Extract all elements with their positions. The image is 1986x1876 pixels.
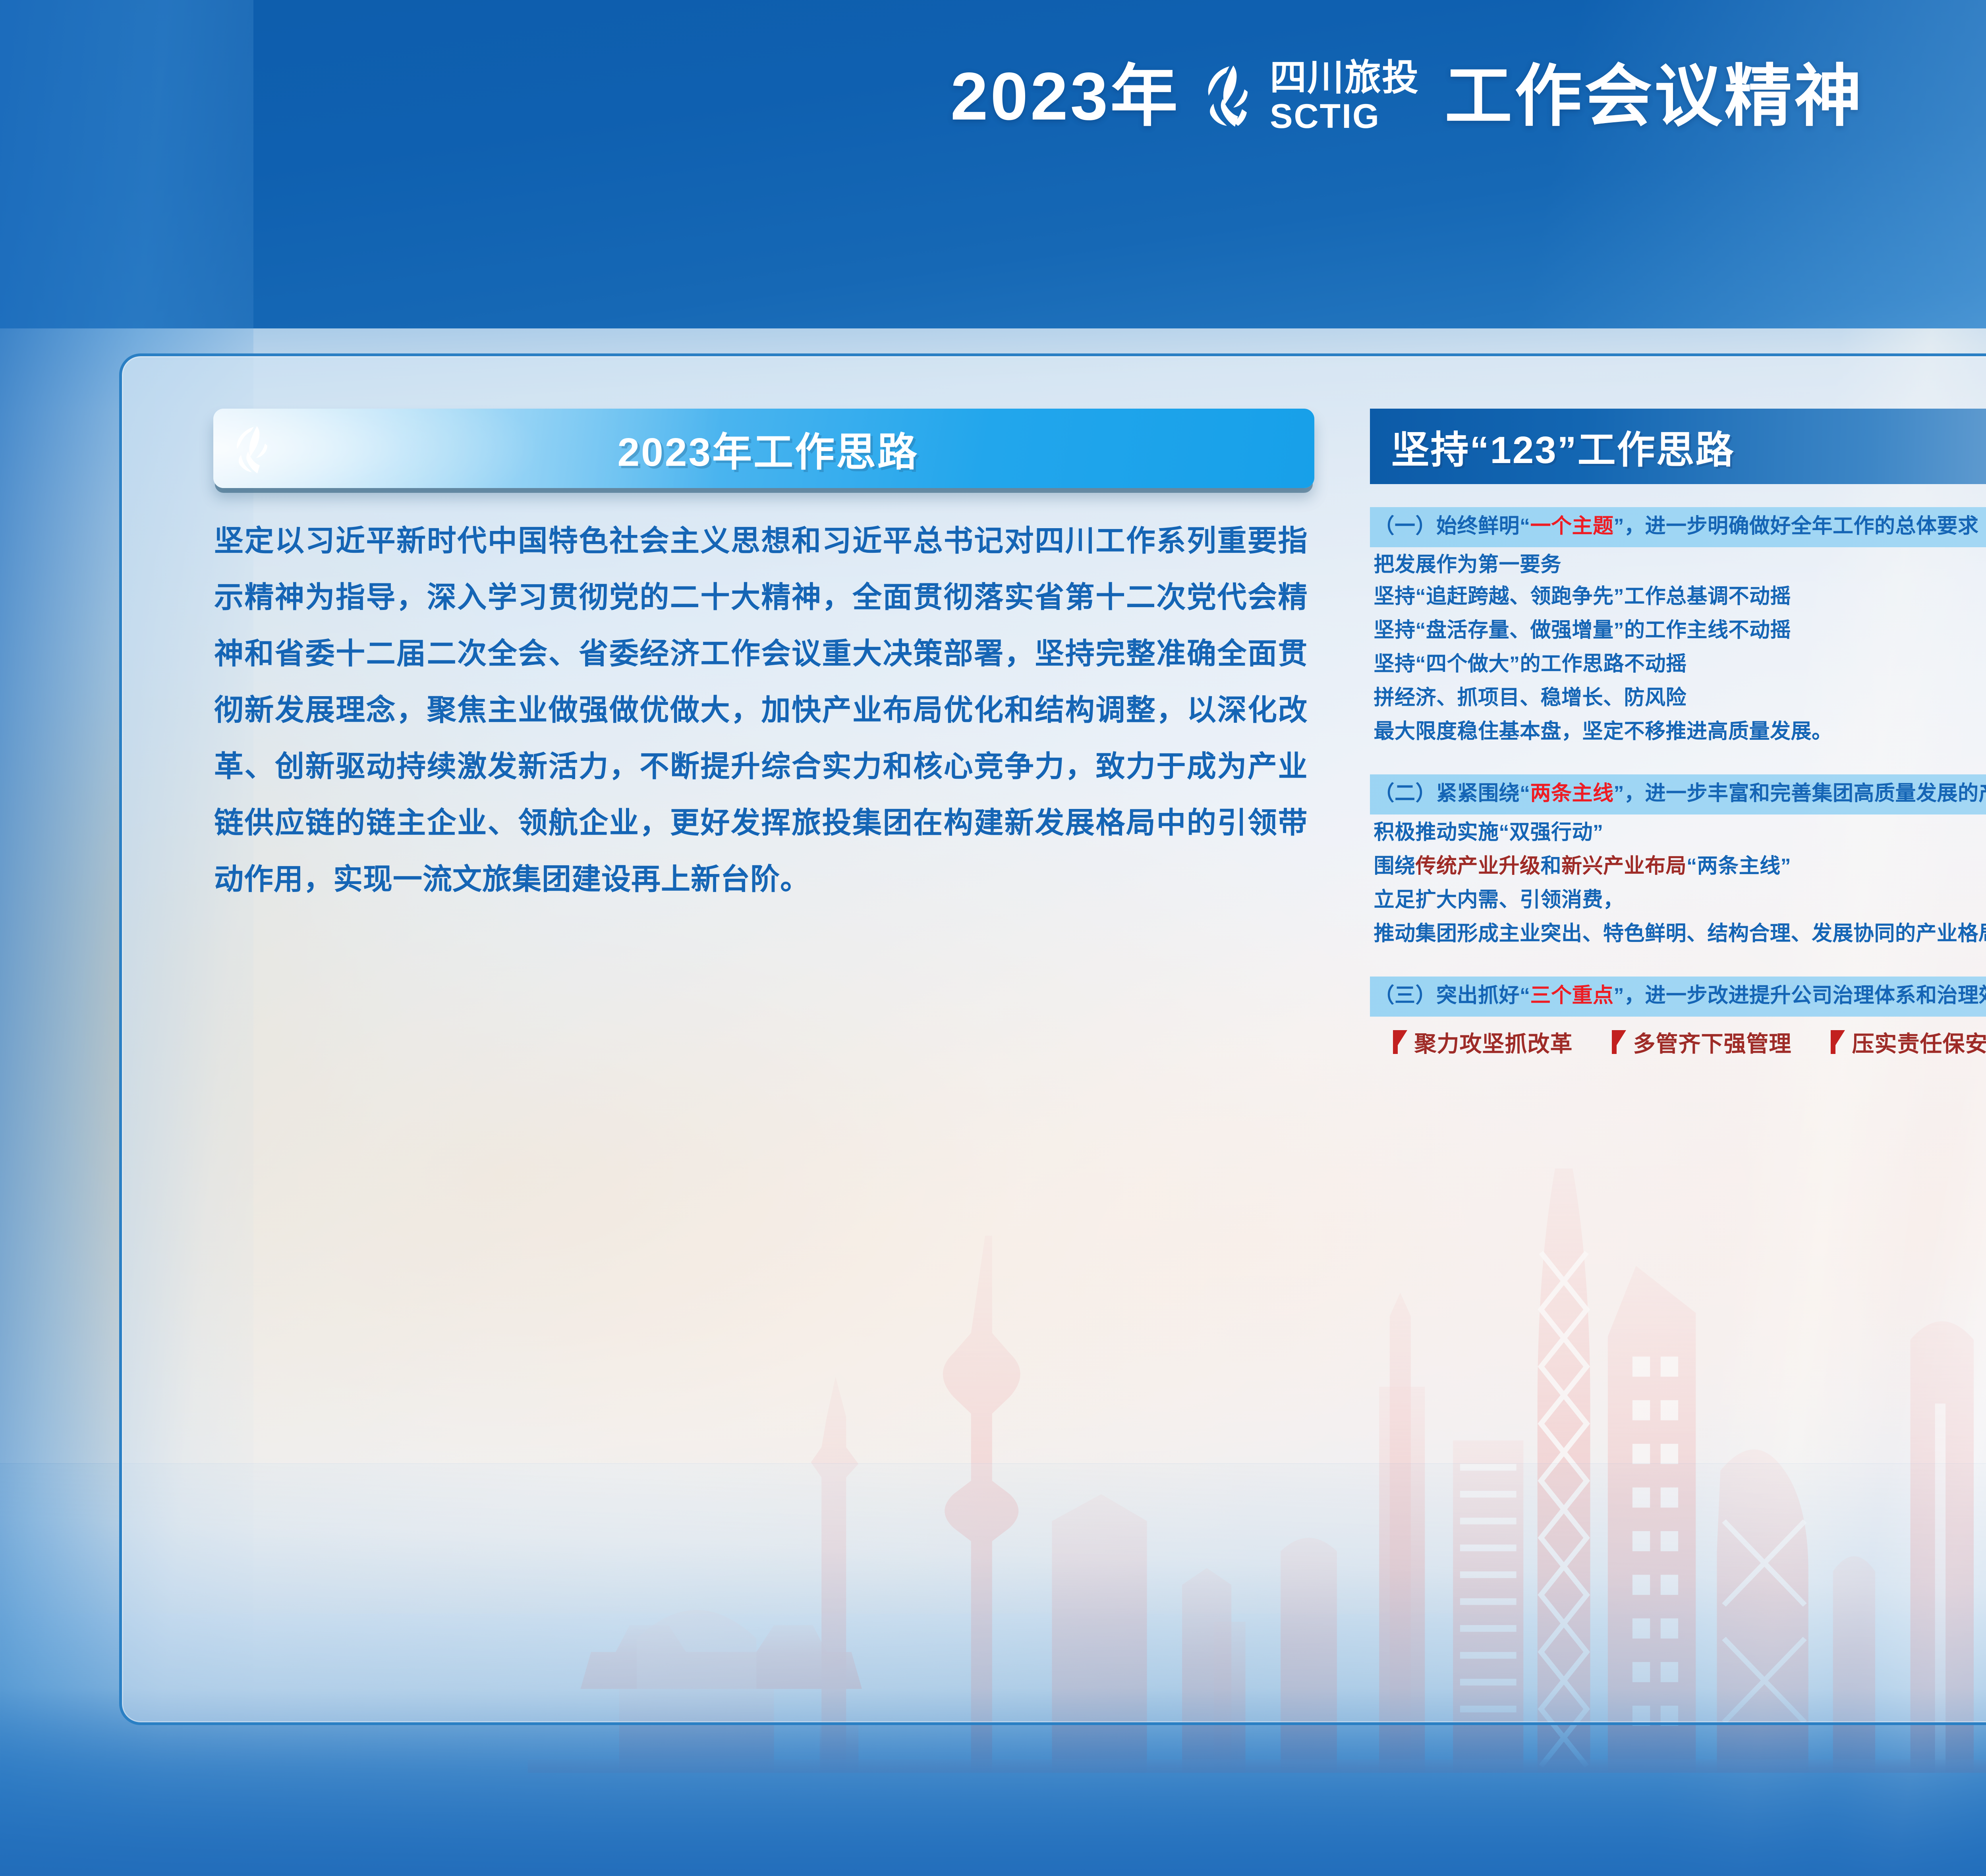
bullet-item: 压实责任保安全 — [1830, 1026, 1986, 1058]
left-section-banner: 2023年工作思路 — [213, 409, 1314, 488]
bullet-label-3: 压实责任保安全 — [1852, 1026, 1986, 1058]
section-1-head-highlight: 一个主题 — [1530, 515, 1614, 538]
right-section-banner: 坚持“123”工作思路 — [1370, 409, 1986, 484]
bullet-label-1: 聚力攻坚抓改革 — [1414, 1026, 1573, 1058]
section-1-head-suffix: ”，进一步明确做好全年工作的总体要求 — [1614, 515, 1979, 538]
section-2-subheading: 积极推动实施“双强行动” — [1374, 817, 1986, 848]
section-divider-1 — [1370, 747, 1986, 774]
section-2-line-2: 推动集团形成主业突出、特色鲜明、结构合理、发展协同的产业格局。 — [1374, 918, 1986, 950]
section-2-heading: （二）紧紧围绕“两条主线”，进一步丰富和完善集团高质量发展的产业格局 — [1370, 774, 1986, 814]
globe-icon — [231, 423, 282, 474]
section-2-mixed-d: 新兴产业布局 — [1561, 855, 1687, 878]
section-3-head-highlight: 三个重点 — [1530, 984, 1614, 1007]
brand-name-en: SCTIG — [1270, 99, 1380, 133]
section-2-head-highlight: 两条主线 — [1530, 782, 1614, 805]
section-divider-2 — [1370, 950, 1986, 977]
title-main: 工作会议精神 — [1445, 63, 1864, 130]
red-flag-icon — [1392, 1029, 1408, 1055]
section-3-heading: （三）突出抓好“三个重点”，进一步改进提升公司治理体系和治理效能 — [1370, 977, 1986, 1017]
left-body-paragraph: 坚定以习近平新时代中国特色社会主义思想和习近平总书记对四川工作系列重要指示精神为… — [214, 513, 1308, 908]
section-2-head-suffix: ”，进一步丰富和完善集团高质量发展的产业格局 — [1614, 782, 1986, 805]
right-body: （一）始终鲜明“一个主题”，进一步明确做好全年工作的总体要求 把发展作为第一要务… — [1370, 507, 1986, 1058]
bullet-item: 多管齐下强管理 — [1611, 1026, 1792, 1058]
section-1-line-1: 坚持“追赶跨越、领跑争先”工作总基调不动摇 — [1374, 581, 1986, 612]
section-1-line-3: 坚持“四个做大”的工作思路不动摇 — [1374, 648, 1986, 680]
section-3-head-prefix: （三）突出抓好“ — [1374, 984, 1530, 1007]
section-2-mixed-a: 围绕 — [1374, 855, 1416, 878]
section-3-head-suffix: ”，进一步改进提升公司治理体系和治理效能 — [1614, 984, 1986, 1007]
globe-swoosh-logo-icon — [1206, 65, 1261, 128]
brand-logo: 四川旅投 SCTIG — [1206, 60, 1419, 133]
poster-title: 2023年 四川旅投 SCTIG 工作会议精神 — [0, 60, 1986, 133]
section-1-head-prefix: （一）始终鲜明“ — [1374, 515, 1530, 538]
main-content-panel: 2023年工作思路 坚定以习近平新时代中国特色社会主义思想和习近平总书记对四川工… — [119, 353, 1986, 1725]
section-1-line-4: 拼经济、抓项目、稳增长、防风险 — [1374, 682, 1986, 714]
section-2-mixed-e: “两条主线” — [1687, 855, 1791, 878]
section-1-line-2: 坚持“盘活存量、做强增量”的工作主线不动摇 — [1374, 615, 1986, 646]
left-banner-title: 2023年工作思路 — [282, 420, 1255, 477]
top-blue-band — [0, 0, 1986, 328]
section-1-heading: （一）始终鲜明“一个主题”，进一步明确做好全年工作的总体要求 — [1370, 507, 1986, 547]
bullet-item: 聚力攻坚抓改革 — [1392, 1026, 1573, 1058]
section-2-line-1: 立足扩大内需、引领消费， — [1374, 884, 1986, 916]
section-2-mixed-b: 传统产业升级 — [1416, 855, 1541, 878]
section-2-head-prefix: （二）紧紧围绕“ — [1374, 782, 1530, 805]
left-column: 2023年工作思路 坚定以习近平新时代中国特色社会主义思想和习近平总书记对四川工… — [122, 356, 1342, 1722]
section-2-line-mixed: 围绕传统产业升级和新兴产业布局“两条主线” — [1374, 851, 1986, 882]
right-banner-title: 坚持“123”工作思路 — [1391, 419, 1735, 474]
red-flag-icon — [1611, 1029, 1627, 1055]
bullet-label-2: 多管齐下强管理 — [1633, 1026, 1792, 1058]
section-3-bullets: 聚力攻坚抓改革 多管齐下强管理 压实责任保安全 — [1392, 1026, 1986, 1058]
brand-name-cn: 四川旅投 — [1270, 60, 1419, 96]
right-column: 坚持“123”工作思路 （一）始终鲜明“一个主题”，进一步明确做好全年工作的总体… — [1342, 356, 1986, 1722]
section-1-subheading: 把发展作为第一要务 — [1374, 551, 1986, 579]
section-1-line-5: 最大限度稳住基本盘，坚定不移推进高质量发展。 — [1374, 716, 1986, 747]
section-2-mixed-c: 和 — [1541, 855, 1562, 878]
title-year: 2023年 — [950, 63, 1180, 130]
red-flag-icon — [1830, 1029, 1846, 1055]
